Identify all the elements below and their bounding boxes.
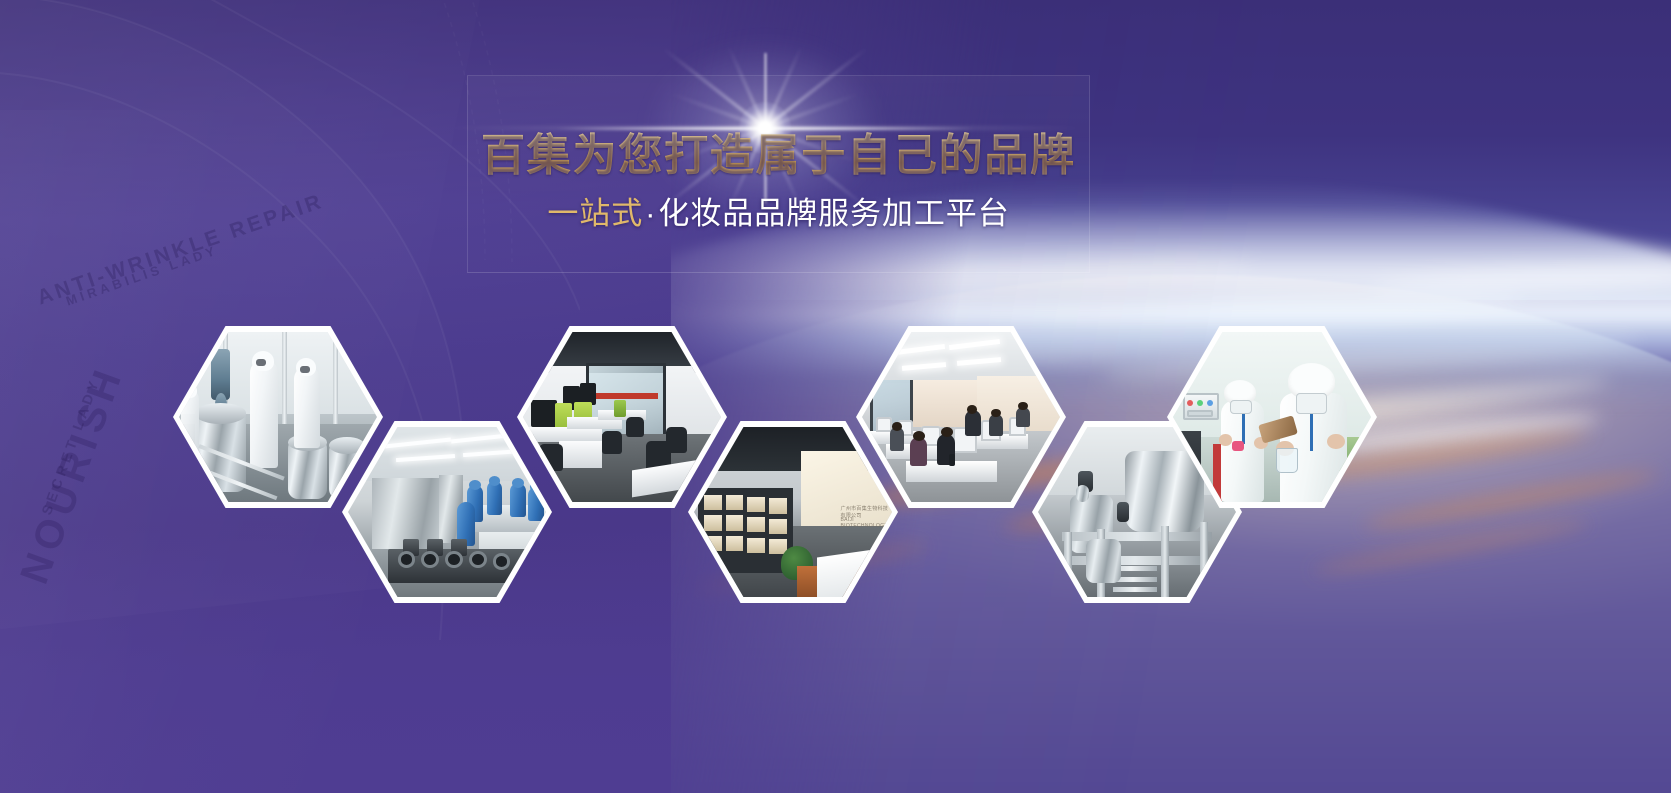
hexagon-photo-design-office[interactable]	[517, 326, 727, 508]
hexagon-photo-product-showroom[interactable]: 广州市百集生物科技有限公司 BAIJI BIOTECHNOLOGY	[688, 421, 898, 603]
hexagon-photo-staff-office[interactable]	[856, 326, 1066, 508]
promo-banner: ANTI-WRINKLE REPAIR MIRABILIS LADY NOURI…	[0, 0, 1671, 793]
showroom-wall-logo-line2: BAIJI BIOTECHNOLOGY	[841, 517, 892, 529]
hexagon-photo-gallery: 广州市百集生物科技有限公司 BAIJI BIOTECHNOLOGY	[0, 0, 1671, 793]
hexagon-photo-emulsifying-reactor-workshop[interactable]	[173, 326, 383, 508]
hexagon-photo-filling-packaging-line[interactable]	[342, 421, 552, 603]
